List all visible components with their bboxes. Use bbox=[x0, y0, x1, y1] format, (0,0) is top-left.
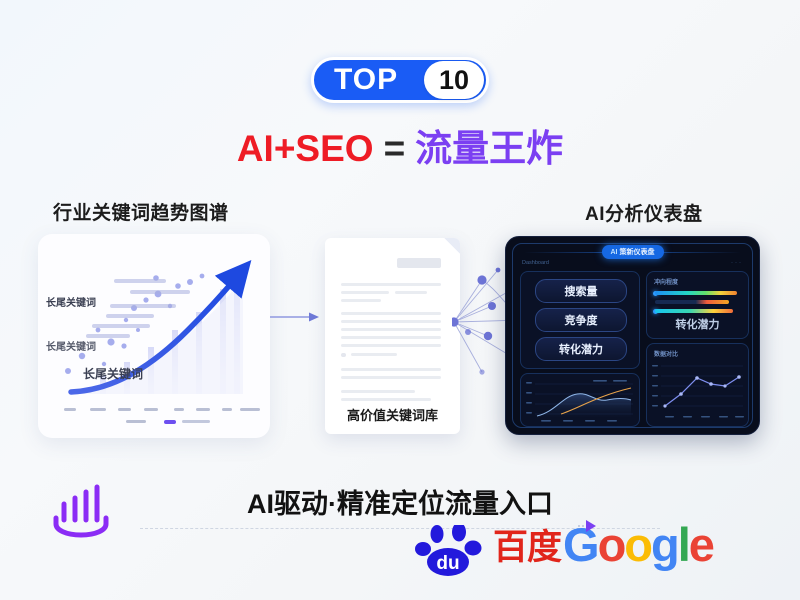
doc-line bbox=[341, 344, 441, 347]
pill-competition[interactable]: 竞争度 bbox=[535, 308, 627, 332]
doc-line bbox=[341, 336, 441, 339]
baidu-chinese-text: 百度 bbox=[493, 530, 561, 565]
flow-arrow-icon bbox=[270, 310, 320, 324]
area-chart-panel bbox=[520, 373, 640, 427]
pill-conversion-potential[interactable]: 转化潜力 bbox=[535, 337, 627, 361]
title-left-part: AI+SEO bbox=[237, 128, 374, 169]
google-letter-o2: o bbox=[624, 521, 651, 568]
gauge-overlay-label: 转化潜力 bbox=[647, 316, 748, 332]
top-badge-number: 10 bbox=[439, 67, 469, 94]
right-section-heading: AI分析仪表盘 bbox=[585, 199, 703, 226]
doc-line bbox=[341, 368, 441, 371]
google-letter-o1: o bbox=[598, 521, 625, 568]
doc-line bbox=[395, 291, 427, 294]
ai-dashboard-card: AI策新仪表盘 Dashboard ··· 搜索量 竞争度 转化潜力 bbox=[505, 236, 760, 435]
dashboard-subtitle: Dashboard bbox=[522, 260, 549, 266]
page-fold-icon bbox=[444, 238, 460, 254]
dashboard-badge-text: 策新仪表盘 bbox=[620, 249, 655, 256]
trend-keyword-label-3: 长尾关键词 bbox=[83, 365, 143, 382]
metric-pills-panel: 搜索量 竞争度 转化潜力 bbox=[520, 271, 640, 369]
doc-header-block bbox=[397, 258, 441, 268]
area-chart-svg bbox=[521, 374, 639, 426]
baidu-du-text: du bbox=[436, 553, 459, 574]
bar-chart-icon bbox=[48, 482, 118, 544]
doc-bullet-icon bbox=[341, 353, 346, 357]
doc-caption: 高价值关键词库 bbox=[325, 405, 460, 424]
trend-keyword-label-1: 长尾关键词 bbox=[46, 294, 96, 309]
top-rank-badge: TOP 10 bbox=[311, 57, 489, 103]
gauge-panel: 冲向程度 转化潜力 bbox=[646, 271, 749, 339]
gauge-bar bbox=[655, 309, 733, 313]
title-right-part: 流量王炸 bbox=[415, 128, 563, 169]
dashboard-title-badge: AI策新仪表盘 bbox=[602, 245, 664, 259]
doc-line bbox=[341, 376, 441, 379]
google-letter-l: l bbox=[678, 521, 689, 568]
title-equals-sign: = bbox=[384, 128, 406, 169]
bottom-tagline: AI驱动·精准定位流量入口 bbox=[0, 482, 800, 521]
doc-line bbox=[341, 320, 441, 323]
line-chart-svg bbox=[647, 344, 748, 426]
dashboard-menu-icon[interactable]: ··· bbox=[731, 260, 743, 266]
trend-chart-card: 长尾关键词 长尾关键词 长尾关键词 bbox=[38, 234, 270, 438]
top-badge-number-circle: 10 bbox=[424, 61, 484, 99]
main-title: AI+SEO=流量王炸 bbox=[0, 128, 800, 171]
pill-search-volume[interactable]: 搜索量 bbox=[535, 279, 627, 303]
doc-line bbox=[341, 299, 381, 302]
trend-chart-svg bbox=[38, 234, 270, 438]
google-letter-e: e bbox=[689, 521, 713, 568]
play-arrow-icon bbox=[578, 518, 600, 534]
google-letter-g2: g bbox=[651, 521, 678, 568]
line-chart-panel: 数据对比 bbox=[646, 343, 749, 427]
trend-keyword-label-2: 长尾关键词 bbox=[46, 338, 96, 353]
doc-line bbox=[351, 353, 397, 356]
doc-line bbox=[341, 283, 441, 286]
gauge-panel-title: 冲向程度 bbox=[654, 277, 678, 286]
doc-line bbox=[341, 291, 389, 294]
slide-canvas: TOP 10 AI+SEO=流量王炸 行业关键词趋势图谱 AI分析仪表盘 bbox=[0, 0, 800, 600]
keyword-document-card: 高价值关键词库 bbox=[325, 238, 460, 434]
doc-line bbox=[341, 390, 415, 393]
gauge-bar bbox=[655, 291, 737, 295]
doc-line bbox=[341, 328, 441, 331]
dashboard-badge-tag: AI bbox=[611, 249, 618, 256]
doc-line bbox=[341, 312, 441, 315]
top-badge-word: TOP bbox=[334, 65, 398, 95]
doc-line bbox=[341, 398, 431, 401]
gauge-bar bbox=[655, 300, 729, 304]
search-engine-logos: du 百度 Google bbox=[415, 521, 755, 581]
left-section-heading: 行业关键词趋势图谱 bbox=[53, 198, 229, 225]
